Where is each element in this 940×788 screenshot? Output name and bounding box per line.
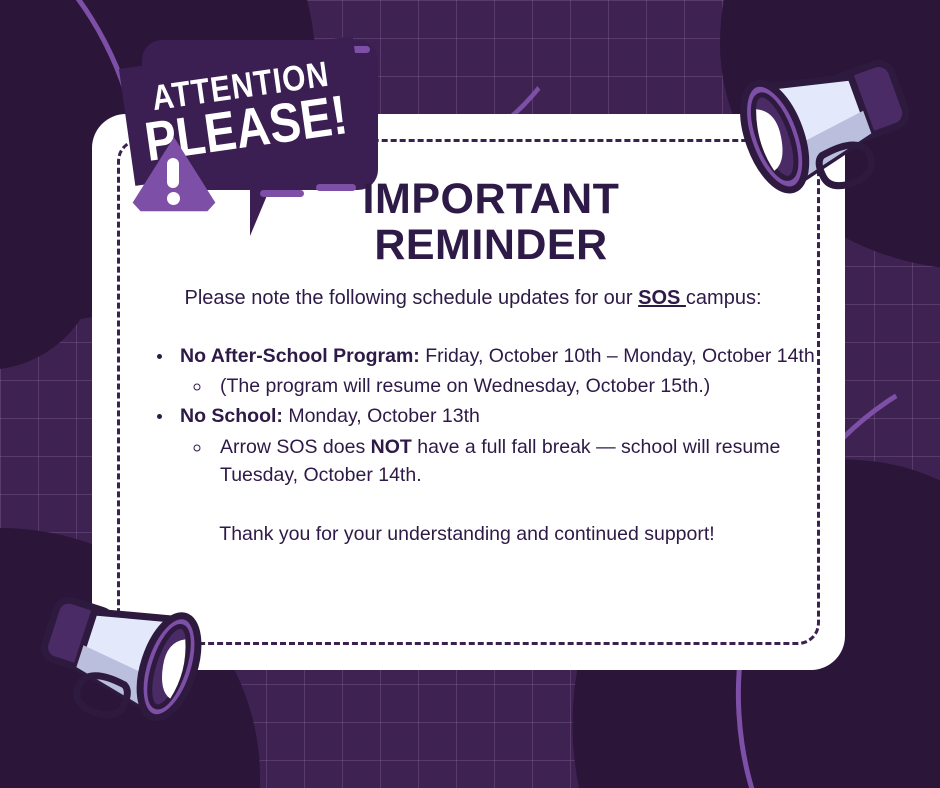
title-line-2: REMINDER: [164, 222, 818, 268]
bullet-1-text: Friday, October 10th – Monday, October 1…: [420, 345, 815, 367]
bullet-1-label: No After-School Program:: [180, 345, 420, 367]
poster-canvas: ATTENTION PLEASE! IMPORTANT REMINDER Ple…: [0, 0, 940, 788]
bullet-2-text: Monday, October 13th: [283, 405, 480, 427]
sub-bullet-list: Arrow SOS does NOT have a full fall brea…: [180, 433, 818, 490]
bullet-list: No School: Monday, October 13th Arrow SO…: [128, 402, 818, 489]
megaphone-icon: [22, 563, 227, 738]
intro-emphasis-sos: SOS: [638, 287, 686, 309]
list-item: No After-School Program: Friday, October…: [174, 342, 818, 401]
closing-message: Thank you for your understanding and con…: [128, 523, 818, 546]
page-title: IMPORTANT REMINDER: [128, 176, 818, 269]
card-content: IMPORTANT REMINDER Please note the follo…: [128, 176, 818, 566]
bullet-2-sub-before: Arrow SOS does: [220, 436, 371, 458]
sub-bullet-list: (The program will resume on Wednesday, O…: [180, 372, 818, 400]
title-line-1: IMPORTANT: [164, 176, 818, 222]
bullet-2-sub-strong: NOT: [371, 436, 412, 458]
list-item: Arrow SOS does NOT have a full fall brea…: [212, 433, 818, 490]
intro-after: campus:: [686, 287, 762, 309]
intro-before: Please note the following schedule updat…: [184, 287, 638, 309]
list-item: No School: Monday, October 13th Arrow SO…: [174, 402, 818, 489]
intro-paragraph: Please note the following schedule updat…: [128, 285, 818, 312]
list-item: (The program will resume on Wednesday, O…: [212, 372, 818, 400]
bullet-2-label: No School:: [180, 405, 283, 427]
bullet-list: No After-School Program: Friday, October…: [128, 342, 818, 401]
